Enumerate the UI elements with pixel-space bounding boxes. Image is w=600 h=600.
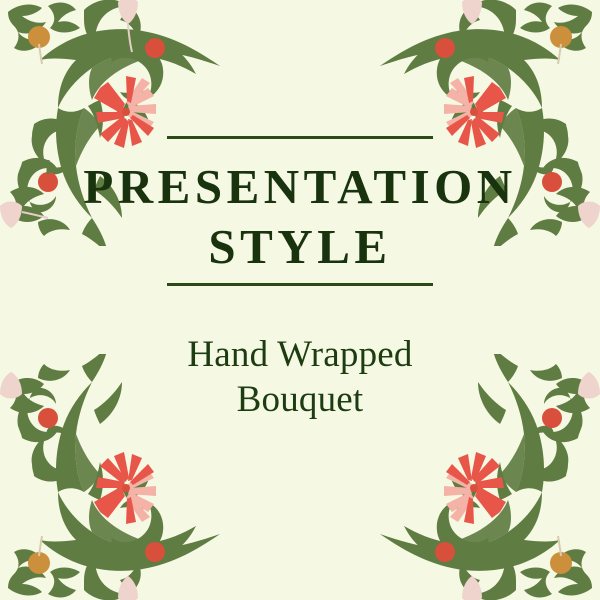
title-line-2: STYLE	[65, 217, 535, 277]
subtitle-line-2: Bouquet	[135, 377, 465, 423]
page-title: PRESENTATION STYLE	[65, 147, 535, 277]
subtitle: Hand WrappedBouquet	[135, 294, 465, 423]
subtitle-line-1: Hand Wrapped	[135, 332, 465, 378]
title-line-1: PRESENTATION	[83, 159, 516, 214]
divider-bottom	[167, 283, 433, 286]
presentation-style-card: PRESENTATION STYLE Hand WrappedBouquet	[0, 0, 600, 600]
card-content: PRESENTATION STYLE Hand WrappedBouquet	[0, 0, 600, 600]
divider-top	[167, 136, 433, 139]
